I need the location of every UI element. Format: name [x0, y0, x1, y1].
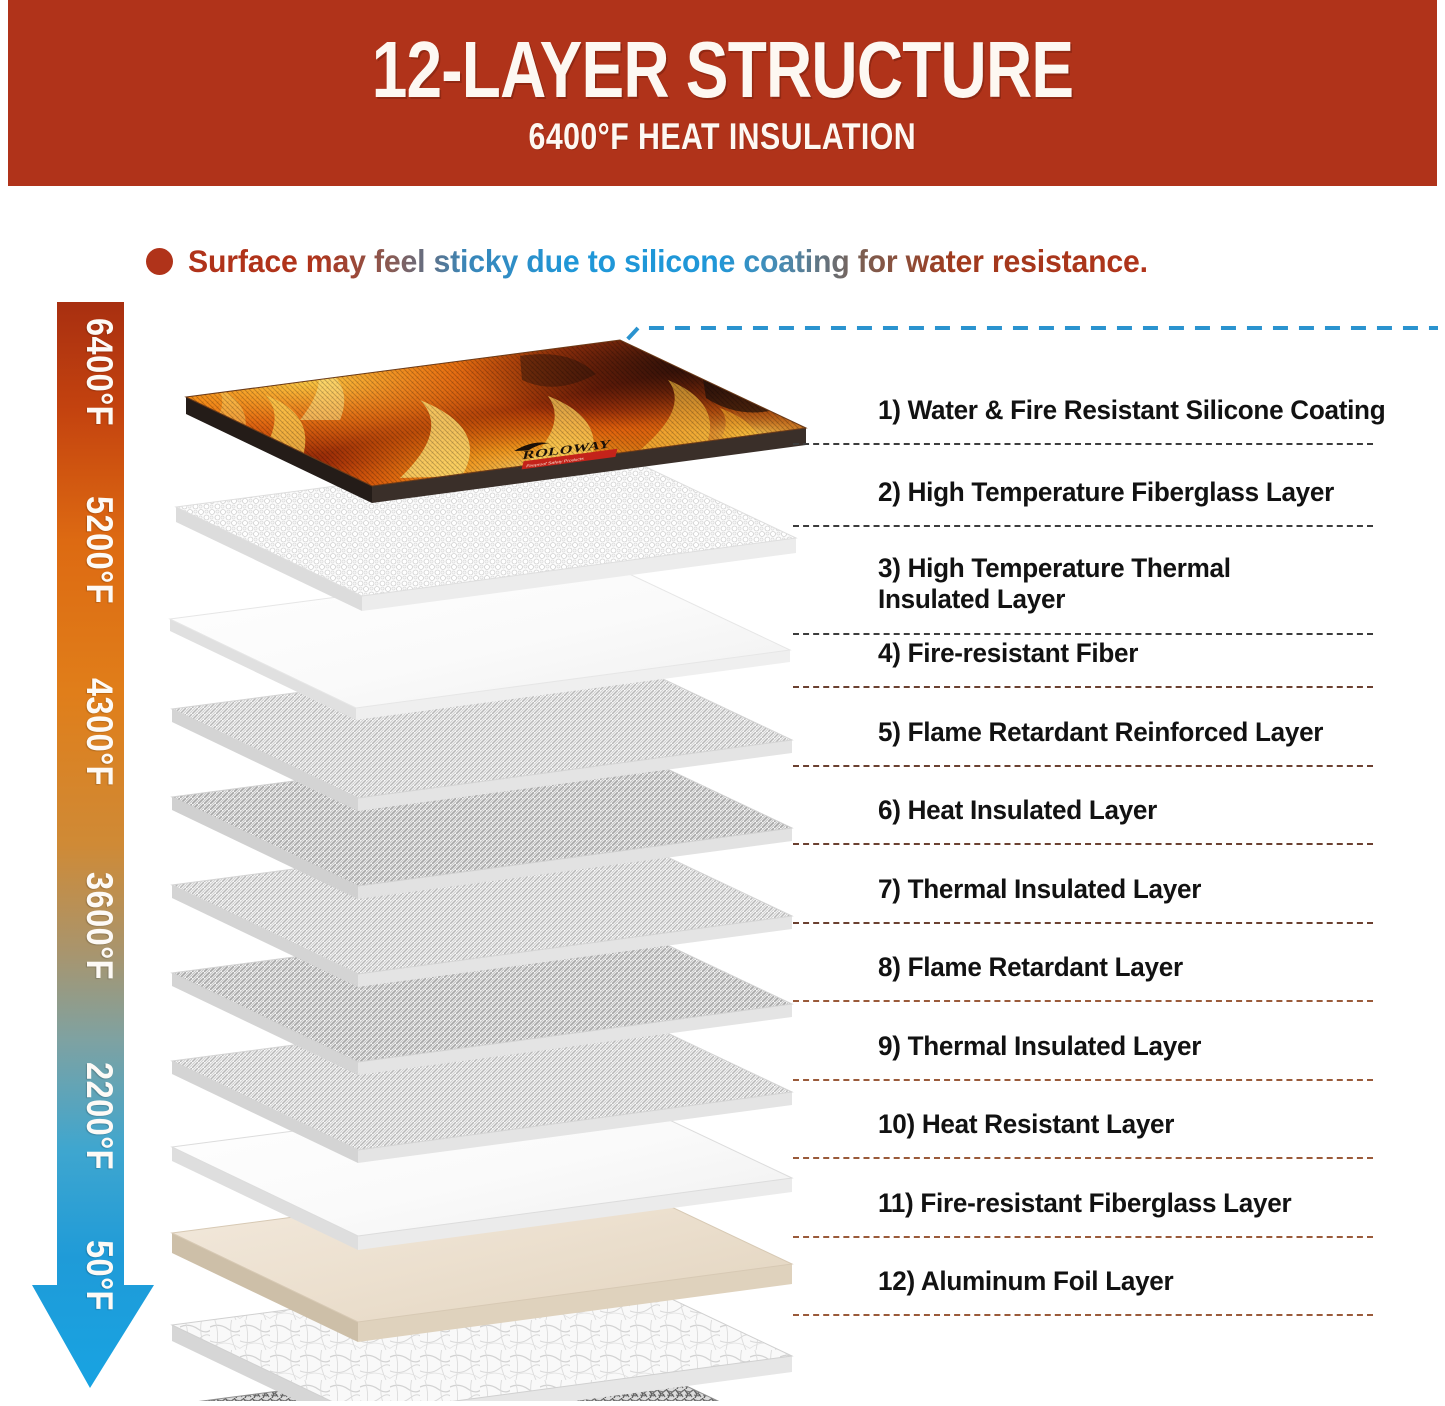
layer-label-2-text: 2) High Temperature Fiberglass Layer: [878, 477, 1436, 508]
layer-label-4-text: 4) Fire-resistant Fiber: [878, 638, 1436, 669]
page-subtitle: 6400°F HEAT INSULATION: [529, 118, 917, 155]
layer-label-1-text: 1) Water & Fire Resistant Silicone Coati…: [878, 395, 1436, 426]
layer-label-3: 3) High Temperature Thermal Insulated La…: [878, 553, 1445, 615]
layer-label-4: 4) Fire-resistant Fiber: [878, 638, 1445, 669]
layer-label-9-text: 9) Thermal Insulated Layer: [878, 1031, 1436, 1062]
layer-label-11-text: 11) Fire-resistant Fiberglass Layer: [878, 1188, 1436, 1219]
layer-rule-4: [793, 686, 1373, 688]
callout-text: Surface may feel sticky due to silicone …: [188, 243, 1148, 280]
layer-label-12: 12) Aluminum Foil Layer: [878, 1266, 1445, 1297]
layer-label-3-text: 3) High Temperature Thermal Insulated La…: [878, 553, 1436, 615]
layer-rule-6: [793, 843, 1373, 845]
layer-label-8-text: 8) Flame Retardant Layer: [878, 952, 1436, 983]
layer-label-1: 1) Water & Fire Resistant Silicone Coati…: [878, 395, 1445, 426]
bullet-dot-icon: [146, 248, 173, 275]
layer-rule-12: [793, 1314, 1373, 1316]
layer-label-2: 2) High Temperature Fiberglass Layer: [878, 477, 1445, 508]
layer-rule-3: [793, 633, 1373, 635]
layer-rule-2: [793, 525, 1373, 527]
layer-rule-11: [793, 1236, 1373, 1238]
layer-rule-8: [793, 1000, 1373, 1002]
layer-label-9: 9) Thermal Insulated Layer: [878, 1031, 1445, 1062]
layer-label-10-text: 10) Heat Resistant Layer: [878, 1109, 1436, 1140]
layer-rule-9: [793, 1079, 1373, 1081]
header-banner: 12-LAYER STRUCTURE 6400°F HEAT INSULATIO…: [8, 0, 1437, 186]
page-title: 12-LAYER STRUCTURE: [372, 31, 1074, 109]
layer-label-7: 7) Thermal Insulated Layer: [878, 874, 1445, 905]
layer-rule-1: [793, 443, 1373, 445]
layer-label-6-text: 6) Heat Insulated Layer: [878, 795, 1436, 826]
layer-rule-7: [793, 922, 1373, 924]
layer-label-5: 5) Flame Retardant Reinforced Layer: [878, 717, 1445, 748]
layer-label-6: 6) Heat Insulated Layer: [878, 795, 1445, 826]
layer-label-8: 8) Flame Retardant Layer: [878, 952, 1445, 983]
layer-label-10: 10) Heat Resistant Layer: [878, 1109, 1445, 1140]
layer-label-7-text: 7) Thermal Insulated Layer: [878, 874, 1436, 905]
layer-label-5-text: 5) Flame Retardant Reinforced Layer: [878, 717, 1436, 748]
layer-label-12-text: 12) Aluminum Foil Layer: [878, 1266, 1436, 1297]
sticky-surface-callout: Surface may feel sticky due to silicone …: [146, 243, 1188, 280]
layer-label-11: 11) Fire-resistant Fiberglass Layer: [878, 1188, 1445, 1219]
layer-rule-10: [793, 1157, 1373, 1159]
layer-rule-5: [793, 765, 1373, 767]
